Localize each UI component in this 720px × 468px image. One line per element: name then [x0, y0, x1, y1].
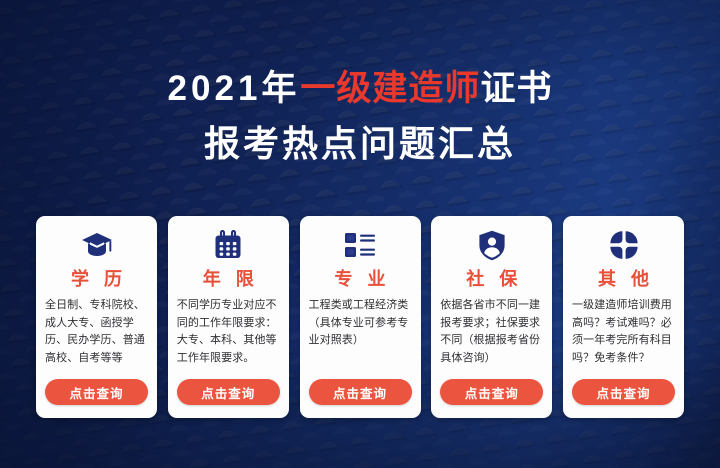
card-title: 其 他	[593, 270, 654, 290]
card-title: 专 业	[329, 270, 390, 290]
card-title: 年 限	[198, 270, 259, 290]
graduation-cap-icon	[81, 228, 113, 262]
card-title: 社 保	[461, 270, 522, 290]
query-button[interactable]: 点击查询	[45, 379, 148, 405]
shield-person-icon	[478, 228, 506, 262]
query-button[interactable]: 点击查询	[572, 379, 675, 405]
card-qita[interactable]: 其 他 一级建造师培训费用高吗？考试难吗？必须一年考完所有科目吗？免考条件？ 点…	[563, 216, 684, 418]
promo-banner: 2021年一级建造师证书 报考热点问题汇总 学 历 全日制、专科院校、成人大专、…	[0, 0, 720, 468]
card-xueli[interactable]: 学 历 全日制、专科院校、成人大专、函授学历、民办学历、普通高校、自考等等 点击…	[36, 216, 157, 418]
title-suffix: 证书	[480, 69, 552, 108]
page-title-line-1: 2021年一级建造师证书	[0, 68, 720, 109]
card-description: 工程类或工程经济类（具体专业可参考专业对照表）	[309, 297, 412, 370]
clover-icon	[609, 228, 639, 262]
title-year: 2021年	[168, 69, 301, 108]
query-button[interactable]: 点击查询	[309, 379, 412, 405]
card-nianxian[interactable]: 年 限 不同学历专业对应不同的工作年限要求：大专、本科、其他等工作年限要求。 点…	[168, 216, 289, 418]
card-description: 依据各省市不同一建报考要求；社保要求不同（根据报考省份具体咨询）	[440, 297, 543, 370]
card-title: 学 历	[66, 270, 127, 290]
title-highlight: 一级建造师	[300, 69, 480, 108]
card-description: 全日制、专科院校、成人大专、函授学历、民办学历、普通高校、自考等等	[45, 297, 148, 370]
card-description: 不同学历专业对应不同的工作年限要求：大专、本科、其他等工作年限要求。	[177, 297, 280, 370]
headline-block: 2021年一级建造师证书 报考热点问题汇总	[0, 0, 720, 166]
list-icon	[344, 228, 376, 262]
page-title-line-2: 报考热点问题汇总	[0, 123, 720, 165]
query-button[interactable]: 点击查询	[440, 379, 543, 405]
card-shebao[interactable]: 社 保 依据各省市不同一建报考要求；社保要求不同（根据报考省份具体咨询） 点击查…	[431, 216, 552, 418]
card-zhuanye[interactable]: 专 业 工程类或工程经济类（具体专业可参考专业对照表） 点击查询	[300, 216, 421, 418]
query-button[interactable]: 点击查询	[177, 379, 280, 405]
card-description: 一级建造师培训费用高吗？考试难吗？必须一年考完所有科目吗？免考条件？	[572, 297, 675, 370]
card-list: 学 历 全日制、专科院校、成人大专、函授学历、民办学历、普通高校、自考等等 点击…	[36, 216, 684, 418]
calendar-icon	[213, 228, 243, 262]
